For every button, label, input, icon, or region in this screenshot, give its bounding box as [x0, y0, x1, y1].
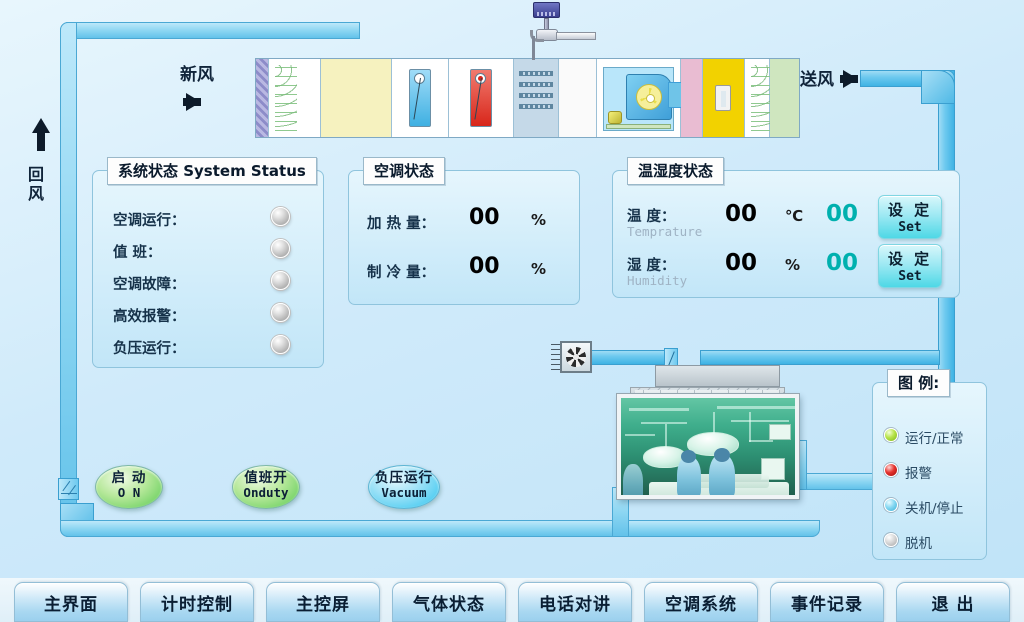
inspection-window-icon	[715, 85, 731, 111]
temperature-setpoint: 00	[826, 201, 858, 227]
heating-valve-icon	[470, 69, 492, 127]
ac-heating-label: 加 热 量：	[367, 212, 435, 233]
onduty-button[interactable]: 值班开 Onduty	[232, 465, 300, 509]
fan-motor-icon	[608, 111, 622, 124]
nav-button-timer-control[interactable]: 计时控制	[140, 582, 254, 622]
status-label-hepa-alarm: 高效报警：	[113, 305, 186, 326]
humidifier-valve-assembly	[524, 2, 604, 60]
valve-actuator-icon	[533, 2, 560, 18]
system-status-title: 系统状态 System Status	[107, 157, 317, 185]
or-supply-plenum	[655, 365, 780, 387]
ahu-cooling-valve	[392, 59, 448, 137]
return-air-label: 回风	[28, 165, 46, 203]
start-button-label-cn: 启 动	[96, 471, 162, 486]
coil-icon	[275, 65, 297, 131]
steam-pipe	[556, 32, 596, 40]
ahu-fan-section	[597, 59, 680, 137]
fresh-air-arrow-icon	[186, 93, 201, 111]
vacuum-button[interactable]: 负压运行 Vacuum	[368, 465, 440, 509]
ahu-prefilter	[256, 59, 269, 137]
nav-button-hvac-system[interactable]: 空调系统	[644, 582, 758, 622]
fan-blades-icon	[636, 84, 662, 110]
humidity-unit: %	[785, 256, 800, 274]
duct-return-vertical	[60, 22, 77, 537]
onduty-button-label-en: Onduty	[233, 486, 299, 500]
ahu-humidifier-section	[559, 59, 597, 137]
temperature-set-label-en: Set	[879, 220, 941, 235]
temp-humidity-title: 温湿度状态	[627, 157, 724, 185]
duct-exhaust-branch	[580, 350, 665, 365]
ahu-filter-pink	[681, 59, 703, 137]
temperature-label-cn: 温 度：	[627, 205, 676, 226]
legend-dot-stopped-icon	[884, 498, 898, 512]
duct-exhaust-branch-right	[700, 350, 940, 365]
fresh-air-label: 新风	[180, 60, 214, 85]
humidity-label-cn: 湿 度：	[627, 254, 676, 275]
legend-label-stopped: 关机/停止	[905, 497, 964, 517]
status-lamp-ac-running	[271, 207, 290, 226]
legend-label-alarm: 报警	[905, 462, 932, 482]
legend-panel: 图 例: 运行/正常 报警 关机/停止 脱机	[872, 382, 987, 560]
temperature-unit: ℃	[785, 207, 803, 225]
air-handling-unit	[255, 58, 800, 138]
legend-dot-running-icon	[884, 428, 898, 442]
status-label-on-duty: 值 班：	[113, 241, 162, 262]
humidity-setpoint: 00	[826, 250, 858, 276]
legend-title: 图 例:	[887, 369, 950, 397]
operating-room-video-feed[interactable]	[617, 394, 799, 499]
cooling-valve-icon	[409, 69, 431, 127]
ac-status-title: 空调状态	[363, 157, 445, 185]
start-button-label-en: O N	[96, 486, 162, 500]
temperature-set-label-cn: 设 定	[879, 199, 941, 220]
temperature-label-en: Temprature	[627, 224, 702, 239]
status-label-ac-running: 空调运行：	[113, 209, 186, 230]
pipe-downcomer	[532, 36, 535, 60]
ac-cooling-value: 00	[469, 254, 500, 279]
humidity-value: 00	[725, 250, 757, 276]
ahu-coil-section	[269, 59, 322, 137]
bottom-navigation-bar: 主界面 计时控制 主控屏 气体状态 电话对讲 空调系统 事件记录 退 出	[0, 578, 1024, 622]
ahu-filter-yellow	[321, 59, 392, 137]
supply-air-arrow-icon	[843, 70, 858, 88]
ahu-filter-gold	[703, 59, 745, 137]
status-label-neg-pressure: 负压运行：	[113, 337, 186, 358]
humidity-label-en: Humidity	[627, 273, 687, 288]
status-lamp-neg-pressure	[271, 335, 290, 354]
vacuum-button-label-en: Vacuum	[369, 486, 439, 500]
supply-air-label: 送风	[800, 65, 834, 90]
ahu-coil-section-2	[745, 59, 770, 137]
duct-corner-top-right	[921, 70, 955, 104]
humidity-set-label-en: Set	[879, 269, 941, 284]
ac-cooling-unit: %	[531, 260, 546, 278]
nav-button-exit[interactable]: 退 出	[896, 582, 1010, 622]
status-label-ac-fault: 空调故障：	[113, 273, 186, 294]
damper-icon-return	[58, 478, 79, 500]
legend-dot-offline-icon	[884, 533, 898, 547]
fan-housing-icon	[626, 74, 672, 120]
system-status-panel: 系统状态 System Status 空调运行： 值 班： 空调故障： 高效报警…	[92, 170, 324, 368]
video-scene	[621, 398, 795, 495]
legend-label-running: 运行/正常	[905, 427, 964, 447]
status-lamp-ac-fault	[271, 271, 290, 290]
exhaust-fan-icon	[560, 341, 592, 373]
onduty-button-label-cn: 值班开	[233, 471, 299, 486]
vacuum-button-label-cn: 负压运行	[369, 471, 439, 486]
fan-enclosure	[603, 67, 673, 131]
ahu-hepa-filter	[770, 59, 799, 137]
ac-cooling-label: 制 冷 量：	[367, 261, 435, 282]
return-air-arrow-icon	[32, 118, 50, 133]
duct-top-left	[60, 22, 360, 39]
ac-status-panel: 空调状态 加 热 量： 00 % 制 冷 量： 00 %	[348, 170, 580, 305]
humidity-set-label-cn: 设 定	[879, 248, 941, 269]
ac-heating-unit: %	[531, 211, 546, 229]
nav-button-event-log[interactable]: 事件记录	[770, 582, 884, 622]
start-on-button[interactable]: 启 动 O N	[95, 465, 163, 509]
nav-button-main-panel[interactable]: 主控屏	[266, 582, 380, 622]
ahu-damper-section	[514, 59, 559, 137]
fan-base	[606, 124, 670, 129]
status-lamp-on-duty	[271, 239, 290, 258]
legend-label-offline: 脱机	[905, 532, 932, 552]
nav-button-gas-status[interactable]: 气体状态	[392, 582, 506, 622]
duct-bottom-return	[60, 520, 820, 537]
legend-dot-alarm-icon	[884, 463, 898, 477]
nav-button-main-screen[interactable]: 主界面	[14, 582, 128, 622]
temperature-set-button[interactable]: 设 定 Set	[878, 195, 942, 239]
ahu-heating-valve	[449, 59, 514, 137]
temp-humidity-panel: 温湿度状态 温 度： Temprature 00 ℃ 00 设 定 Set 湿 …	[612, 170, 960, 298]
status-lamp-hepa-alarm	[271, 303, 290, 322]
ac-heating-value: 00	[469, 205, 500, 230]
damper-blades-icon	[519, 71, 553, 125]
temperature-value: 00	[725, 201, 757, 227]
humidity-set-button[interactable]: 设 定 Set	[878, 244, 942, 288]
nav-button-intercom[interactable]: 电话对讲	[518, 582, 632, 622]
